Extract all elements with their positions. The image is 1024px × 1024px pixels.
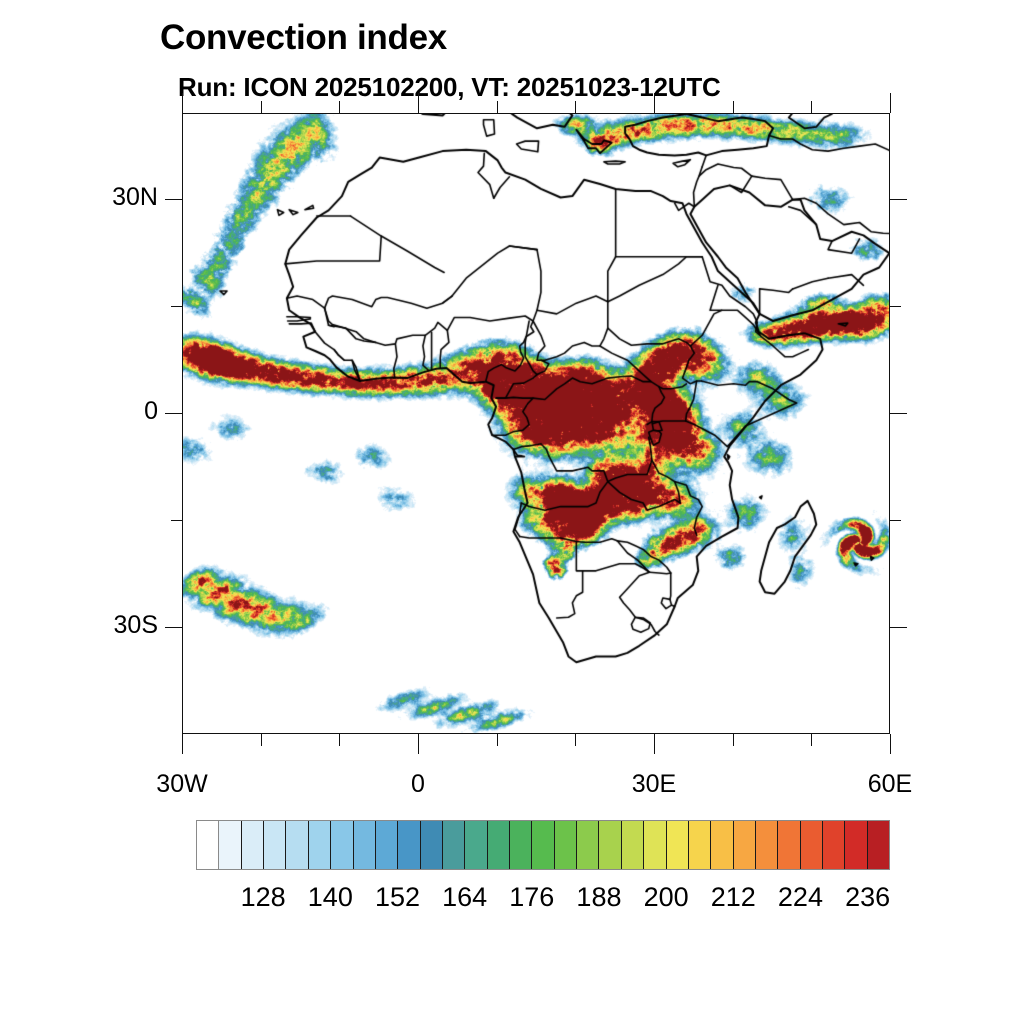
colorbar-cell xyxy=(734,821,756,869)
x-axis-tick-top xyxy=(733,101,734,113)
colorbar-tick-236: 236 xyxy=(828,882,908,913)
y-axis-tick xyxy=(165,199,182,200)
colorbar-cell xyxy=(286,821,308,869)
colorbar-cell xyxy=(443,821,465,869)
x-axis-label-30e: 30E xyxy=(594,770,714,799)
colorbar-cell xyxy=(354,821,376,869)
colorbar-cell xyxy=(689,821,711,869)
x-axis-tick-top xyxy=(497,101,498,113)
x-axis-tick xyxy=(261,734,262,746)
y-axis-tick xyxy=(171,306,182,307)
country-borders-overlay xyxy=(183,114,890,734)
colorbar-cell xyxy=(667,821,689,869)
colorbar-cell xyxy=(644,821,666,869)
x-axis-tick xyxy=(575,734,576,746)
colorbar-cell xyxy=(242,821,264,869)
colorbar-cell xyxy=(309,821,331,869)
colorbar-cell xyxy=(264,821,286,869)
colorbar-cell xyxy=(577,821,599,869)
colorbar-cell xyxy=(845,821,867,869)
colorbar-cell xyxy=(823,821,845,869)
x-axis-tick xyxy=(890,734,891,754)
x-axis-tick-top xyxy=(890,93,891,113)
colorbar-cell xyxy=(488,821,510,869)
colorbar-cell xyxy=(398,821,420,869)
colorbar-cell xyxy=(801,821,823,869)
x-axis-tick xyxy=(811,734,812,746)
page-subtitle: Run: ICON 2025102200, VT: 20251023-12UTC xyxy=(178,72,721,103)
x-axis-tick xyxy=(418,734,419,754)
x-axis-tick-top xyxy=(182,93,183,113)
colorbar-cell xyxy=(622,821,644,869)
colorbar-cell xyxy=(421,821,443,869)
colorbar-cell xyxy=(219,821,241,869)
x-axis-tick-top xyxy=(575,101,576,113)
x-axis-tick xyxy=(182,734,183,754)
y-axis-label-0: 0 xyxy=(144,397,158,426)
x-axis-tick xyxy=(339,734,340,746)
x-axis-tick-top xyxy=(339,101,340,113)
colorbar-cell xyxy=(778,821,800,869)
y-axis-label-30s: 30S xyxy=(114,611,158,640)
x-axis-label-0: 0 xyxy=(358,770,478,799)
colorbar-cell xyxy=(532,821,554,869)
colorbar xyxy=(196,820,890,870)
y-axis-tick-right xyxy=(890,627,907,628)
colorbar-cell xyxy=(868,821,889,869)
colorbar-cell xyxy=(555,821,577,869)
colorbar-cell xyxy=(465,821,487,869)
y-axis-tick-right xyxy=(890,413,907,414)
x-axis-tick-top xyxy=(811,101,812,113)
y-axis-tick-right xyxy=(890,306,901,307)
y-axis-tick xyxy=(165,413,182,414)
x-axis-tick-top xyxy=(261,101,262,113)
y-axis-tick-right xyxy=(890,199,907,200)
colorbar-cell xyxy=(331,821,353,869)
x-axis-tick xyxy=(654,734,655,754)
colorbar-cell xyxy=(197,821,219,869)
page-title: Convection index xyxy=(160,18,447,58)
convection-index-figure: Convection index Run: ICON 2025102200, V… xyxy=(0,0,1024,1024)
x-axis-tick xyxy=(733,734,734,746)
y-axis-label-30n: 30N xyxy=(112,183,158,212)
x-axis-tick-top xyxy=(418,93,419,113)
colorbar-cell xyxy=(599,821,621,869)
map-plot-area xyxy=(182,113,890,734)
colorbar-cell xyxy=(376,821,398,869)
y-axis-tick-right xyxy=(890,520,901,521)
colorbar-cell xyxy=(711,821,733,869)
x-axis-label-30w: 30W xyxy=(122,770,242,799)
x-axis-tick-top xyxy=(654,93,655,113)
x-axis-tick xyxy=(497,734,498,746)
x-axis-label-60e: 60E xyxy=(830,770,950,799)
y-axis-tick xyxy=(171,520,182,521)
colorbar-cell xyxy=(756,821,778,869)
colorbar-cell xyxy=(510,821,532,869)
y-axis-tick xyxy=(165,627,182,628)
